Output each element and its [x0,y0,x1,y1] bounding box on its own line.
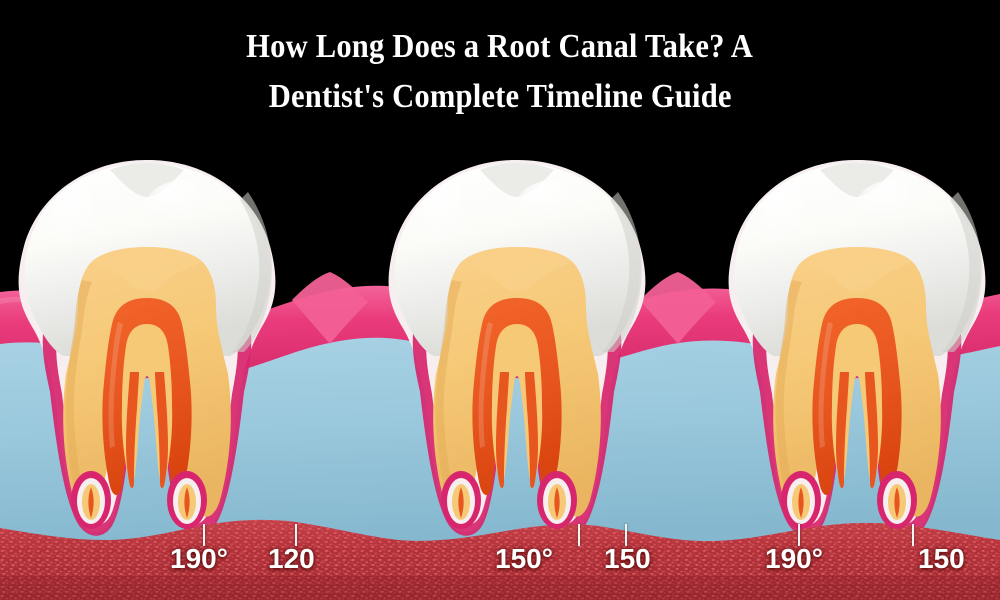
measurement-overlay: 190°120150°150190°150 [0,0,1000,600]
screenshot-canvas: How Long Does a Root Canal Take? A Denti… [0,0,1000,600]
measurement-label-m5: 190° [765,545,823,573]
measurement-label-m2: 120 [268,545,315,573]
measurement-tick-m6 [912,524,914,546]
measurement-tick-m3 [578,524,580,546]
measurement-label-m6: 150 [918,545,965,573]
measurement-label-m1: 190° [170,545,228,573]
measurement-label-m4: 150 [604,545,651,573]
measurement-label-m3: 150° [495,545,553,573]
